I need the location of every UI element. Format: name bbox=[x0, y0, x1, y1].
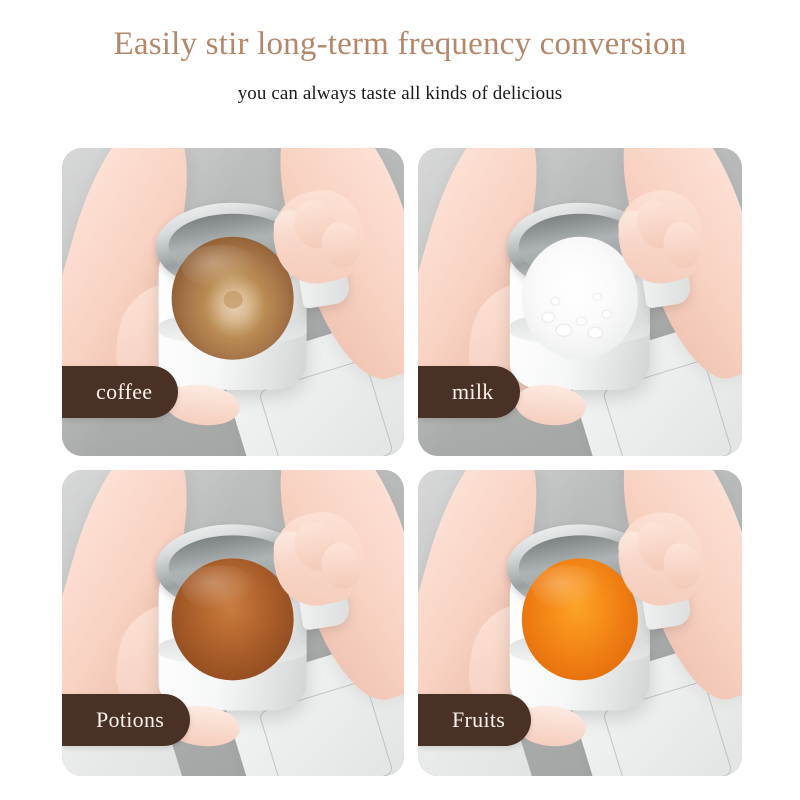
badge-fruits: Fruits bbox=[418, 694, 531, 746]
gallery-panel-milk[interactable]: milk bbox=[418, 148, 742, 456]
gallery-panel-potions[interactable]: Potions bbox=[62, 470, 404, 776]
page-subtitle: you can always taste all kinds of delici… bbox=[0, 82, 800, 106]
gallery-panel-coffee[interactable]: coffee bbox=[62, 148, 404, 456]
liquid-surface-fruit bbox=[522, 558, 638, 679]
page-title: Easily stir long-term frequency conversi… bbox=[0, 24, 800, 64]
badge-coffee: coffee bbox=[62, 366, 178, 418]
badge-milk: milk bbox=[418, 366, 520, 418]
gallery-panel-fruits[interactable]: Fruits bbox=[418, 470, 742, 776]
header-block: Easily stir long-term frequency conversi… bbox=[0, 0, 800, 106]
product-feature-page: Easily stir long-term frequency conversi… bbox=[0, 0, 800, 800]
liquid-surface-potion bbox=[172, 558, 294, 679]
milk-foam-pattern bbox=[522, 237, 638, 359]
badge-potions: Potions bbox=[62, 694, 190, 746]
liquid-surface-coffee bbox=[172, 237, 294, 359]
liquid-surface-milk bbox=[522, 237, 638, 359]
beverage-gallery-grid: coffee bbox=[62, 148, 742, 776]
coffee-swirl-pattern bbox=[172, 237, 294, 359]
